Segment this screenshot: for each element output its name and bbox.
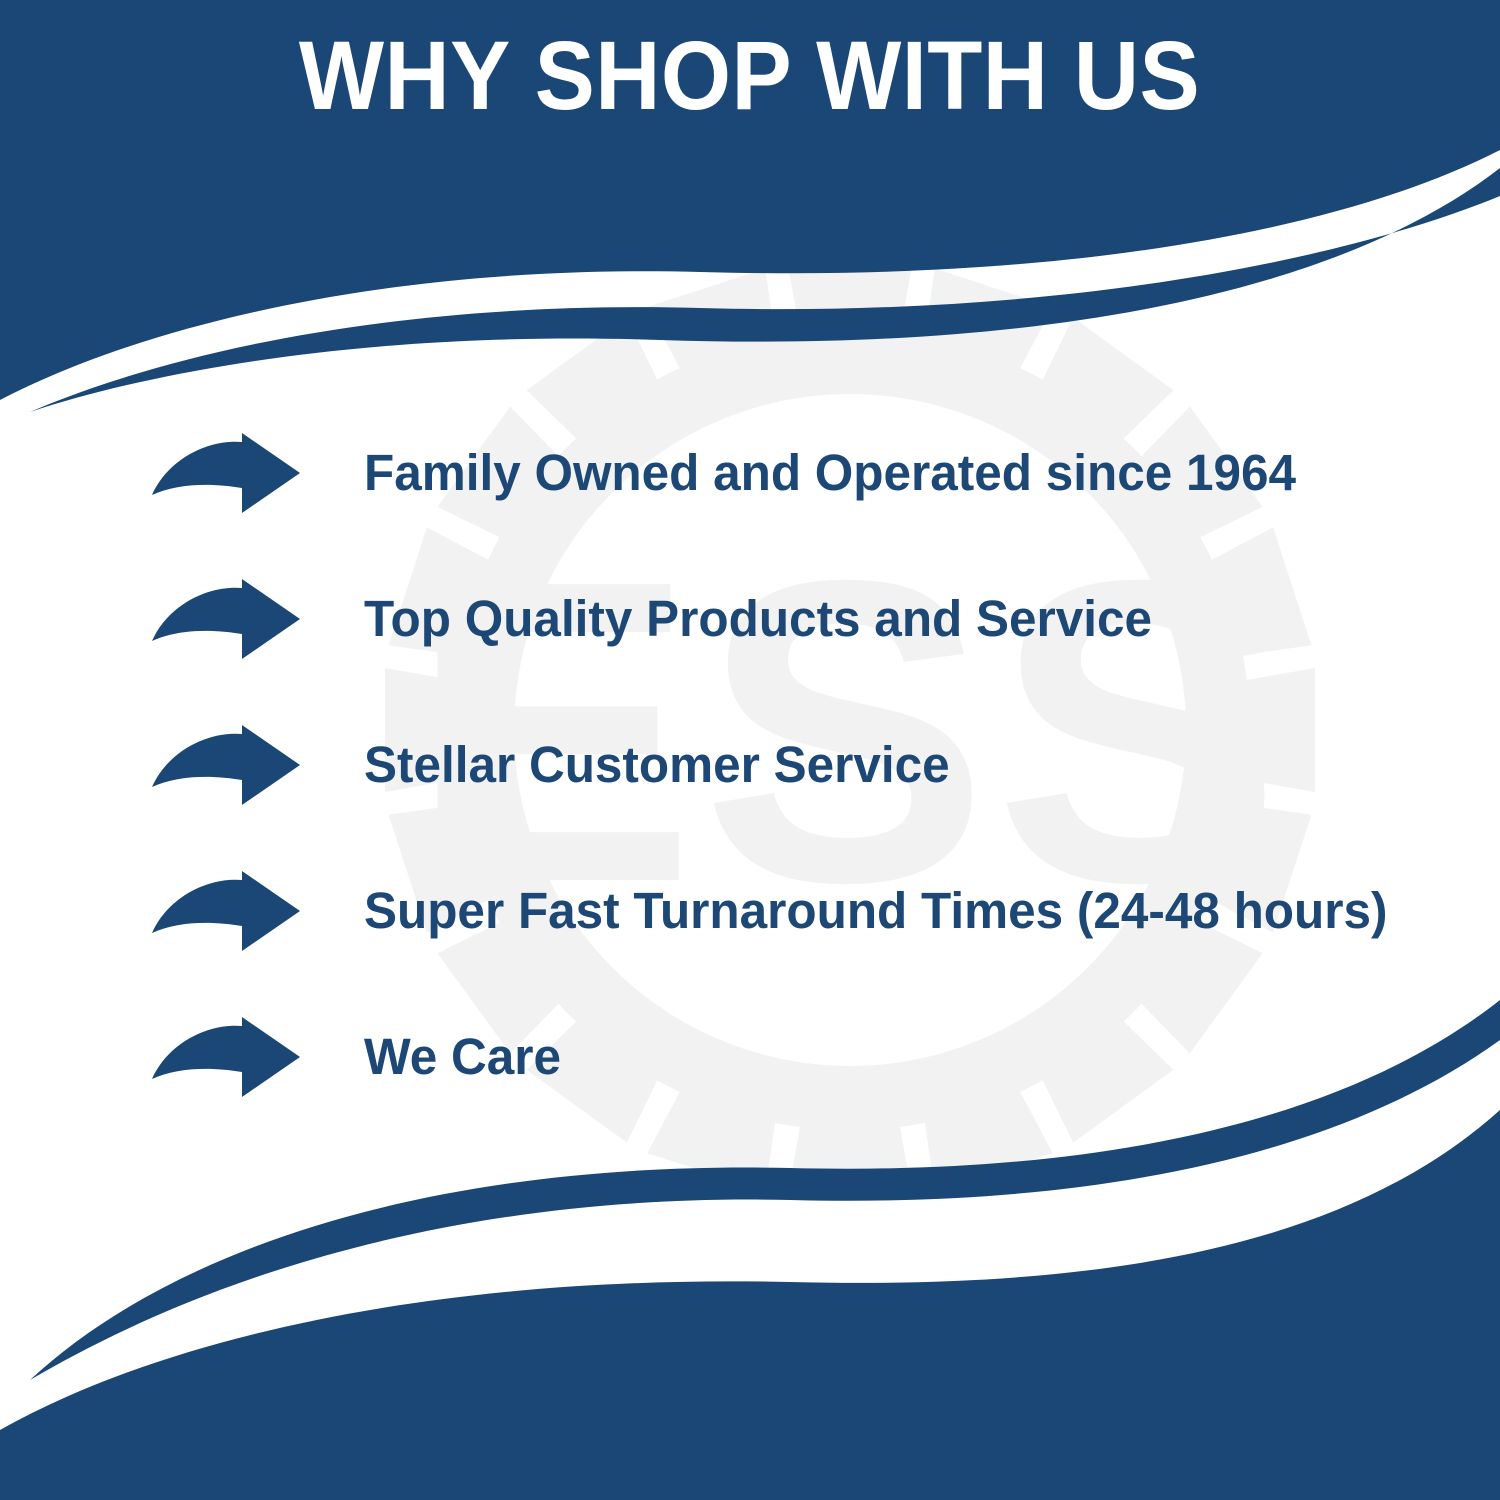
feature-item: Stellar Customer Service [150, 724, 1450, 806]
feature-item: Super Fast Turnaround Times (24-48 hours… [150, 870, 1450, 952]
feature-label: Stellar Customer Service [364, 738, 950, 792]
bottom-footer-shape [0, 1110, 1500, 1500]
feature-list: Family Owned and Operated since 1964 Top… [150, 432, 1450, 1098]
feature-item: We Care [150, 1016, 1450, 1098]
curved-arrow-right-icon [150, 1017, 302, 1097]
page-title: WHY SHOP WITH US [299, 27, 1200, 124]
curved-arrow-right-icon [150, 725, 302, 805]
curved-arrow-right-icon [150, 579, 302, 659]
why-shop-with-us-poster: ESS WHY SHOP WITH US Family Owned and Op… [0, 0, 1500, 1500]
header-band: WHY SHOP WITH US [0, 0, 1500, 150]
feature-label: Super Fast Turnaround Times (24-48 hours… [364, 884, 1387, 938]
feature-label: Family Owned and Operated since 1964 [364, 446, 1296, 500]
top-accent-swoosh [30, 168, 1500, 412]
curved-arrow-right-icon [150, 433, 302, 513]
feature-label: Top Quality Products and Service [364, 592, 1152, 646]
feature-item: Top Quality Products and Service [150, 578, 1450, 660]
feature-item: Family Owned and Operated since 1964 [150, 432, 1450, 514]
curved-arrow-right-icon [150, 871, 302, 951]
feature-label: We Care [364, 1030, 561, 1084]
